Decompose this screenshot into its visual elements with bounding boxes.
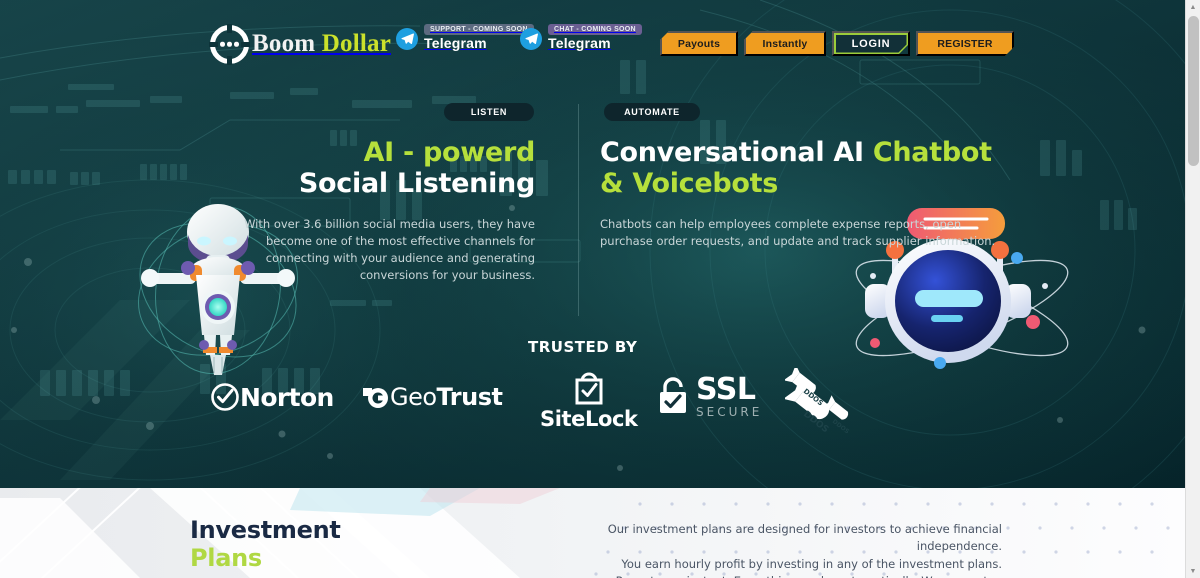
trust-badges-row: Norton GeoTrust xyxy=(200,368,880,434)
norton-checkmark-icon xyxy=(210,382,240,412)
hero-title-listen: AI - powerd Social Listening xyxy=(230,138,535,200)
pill-listen[interactable]: LISTEN xyxy=(444,103,534,121)
plans-background-graphic xyxy=(0,488,1185,578)
hero-column-listen: AI - powerd Social Listening With over 3… xyxy=(230,138,535,284)
trust-badge-ssl: SSL SECURE xyxy=(655,376,762,419)
hero-title-automate: Conversational AI Chatbot & Voicebots xyxy=(600,138,1000,200)
ddos-bombs-icon: DDOS DDOS DDOS xyxy=(785,368,855,434)
trust-badge-norton: Norton xyxy=(210,382,334,412)
ssl-padlock-check-icon xyxy=(655,376,691,418)
pill-automate[interactable]: AUTOMATE xyxy=(604,103,700,121)
register-button[interactable]: REGISTER xyxy=(916,31,1014,56)
trusted-by-label: TRUSTED BY xyxy=(528,338,637,356)
trust-badge-norton-label: Norton xyxy=(240,383,334,412)
boom-dollar-circle-dots-logo-icon xyxy=(210,25,249,64)
geotrust-g-icon xyxy=(360,382,390,412)
site-header: Boom Dollar SUPPORT - COMING SOON Telegr… xyxy=(0,0,1185,86)
trust-badge-geotrust-label: GeoTrust xyxy=(390,383,502,411)
login-button[interactable]: LOGIN xyxy=(832,31,910,56)
telegram-paper-plane-icon xyxy=(396,28,418,50)
hero-title-automate-plain: Conversational AI xyxy=(600,137,873,168)
browser-viewport: Boom Dollar SUPPORT - COMING SOON Telegr… xyxy=(0,0,1185,578)
telegram-support-label: Telegram xyxy=(424,36,534,51)
telegram-paper-plane-icon xyxy=(520,28,542,50)
trust-badge-geotrust: GeoTrust xyxy=(360,382,502,412)
trust-badge-ssl-sublabel: SECURE xyxy=(696,405,762,419)
column-divider xyxy=(578,104,579,316)
plans-description-line-1: Our investment plans are designed for in… xyxy=(600,521,1002,556)
trust-badge-sitelock: SiteLock xyxy=(540,370,638,431)
geotrust-label-trust: Trust xyxy=(437,383,503,411)
header-nav-buttons: Payouts Instantly LOGIN REGISTER xyxy=(660,31,1014,56)
trust-badge-sitelock-label: SiteLock xyxy=(540,407,638,431)
login-button-label: LOGIN xyxy=(852,38,891,50)
plans-description-line-2: You earn hourly profit by investing in a… xyxy=(600,556,1002,573)
plans-title-line2: Plans xyxy=(190,544,341,572)
svg-text:DDOS: DDOS xyxy=(831,418,851,434)
hero-column-automate: Conversational AI Chatbot & Voicebots Ch… xyxy=(600,138,1000,250)
brand-name-part1: Boom xyxy=(252,30,315,57)
scrollbar-up-arrow-icon[interactable]: ▲ xyxy=(1186,0,1200,14)
investment-plans-section xyxy=(0,488,1185,578)
hero-body-automate: Chatbots can help employees complete exp… xyxy=(600,216,1000,250)
hero-title-listen-plain: Social Listening xyxy=(299,168,535,199)
telegram-chat-link[interactable]: CHAT - COMING SOON Telegram xyxy=(520,24,642,51)
hero-body-listen: With over 3.6 billion social media users… xyxy=(230,216,535,284)
instantly-button[interactable]: Instantly xyxy=(744,31,826,56)
telegram-chat-label: Telegram xyxy=(548,36,642,51)
scrollbar-thumb[interactable] xyxy=(1188,16,1199,166)
plans-description: Our investment plans are designed for in… xyxy=(600,521,1002,578)
brand-name-part2: Dollar xyxy=(322,30,391,57)
hero-title-listen-accent: AI - powerd xyxy=(364,137,535,168)
brand-logo[interactable]: Boom Dollar xyxy=(210,25,391,63)
plans-description-line-3: Payouts are instant. Everything works au… xyxy=(600,573,1002,578)
telegram-support-tag: SUPPORT - COMING SOON xyxy=(424,24,534,35)
plans-title-line1: Investment xyxy=(190,516,341,544)
trust-badge-ssl-label: SSL xyxy=(696,376,762,405)
plans-title: Investment Plans xyxy=(190,516,341,573)
scrollbar-down-arrow-icon[interactable]: ▼ xyxy=(1186,564,1200,578)
trust-badge-ddos: DDOS DDOS DDOS xyxy=(785,368,855,434)
page-root: Boom Dollar SUPPORT - COMING SOON Telegr… xyxy=(0,0,1200,578)
sitelock-padlock-check-icon xyxy=(572,370,606,406)
telegram-support-link[interactable]: SUPPORT - COMING SOON Telegram xyxy=(396,24,534,51)
payouts-button[interactable]: Payouts xyxy=(660,31,738,56)
hero-section: Boom Dollar SUPPORT - COMING SOON Telegr… xyxy=(0,0,1185,488)
browser-scrollbar[interactable]: ▲ ▼ xyxy=(1185,0,1200,578)
telegram-chat-tag: CHAT - COMING SOON xyxy=(548,24,642,35)
brand-name: Boom Dollar xyxy=(252,30,391,58)
geotrust-label-geo: Geo xyxy=(390,383,437,411)
